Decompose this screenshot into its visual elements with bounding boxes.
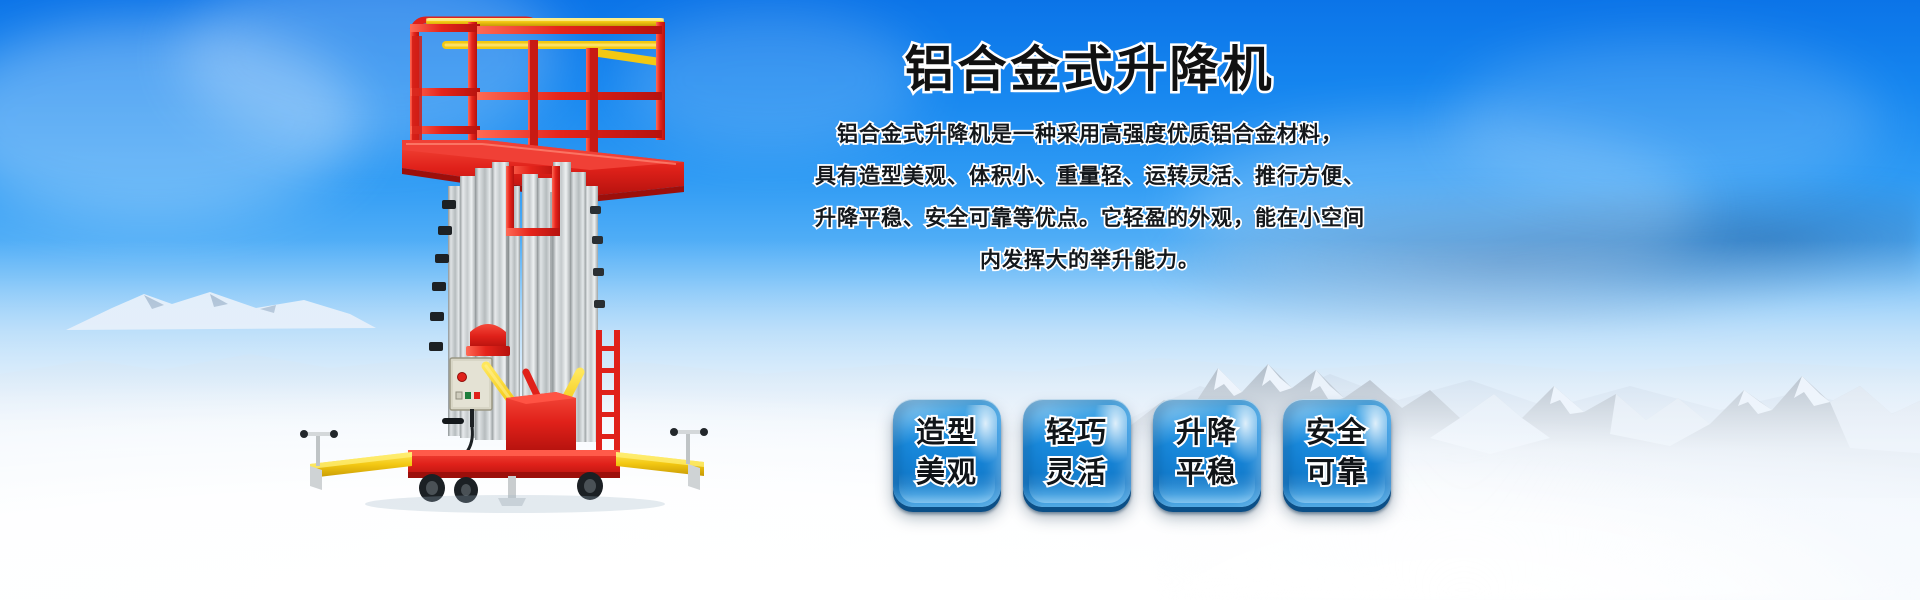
feature-badge-line2: 可靠 bbox=[1306, 453, 1368, 493]
feature-badge-list: 造型 美观 轻巧 灵活 升降 平稳 安全 可靠 bbox=[893, 399, 1391, 507]
feature-badge-line1: 造型 bbox=[916, 413, 978, 453]
feature-badge-line1: 轻巧 bbox=[1046, 413, 1108, 453]
feature-badge-lightweight[interactable]: 轻巧 灵活 bbox=[1023, 399, 1131, 507]
guard-rail-cage bbox=[402, 18, 684, 202]
feature-badge-line2: 平稳 bbox=[1176, 453, 1238, 493]
feature-badge-line2: 灵活 bbox=[1046, 453, 1108, 493]
feature-badge-safe[interactable]: 安全 可靠 bbox=[1283, 399, 1391, 507]
page-title: 铝合金式升降机 bbox=[700, 46, 1480, 96]
feature-badge-design[interactable]: 造型 美观 bbox=[893, 399, 1001, 507]
description-line: 升降平稳、安全可靠等优点。它轻盈的外观，能在小空间 bbox=[700, 198, 1480, 240]
description-line: 具有造型美观、体积小、重量轻、运转灵活、推行方便、 bbox=[700, 156, 1480, 198]
copy-block: 铝合金式升降机 铝合金式升降机是一种采用高强度优质铝合金材料， 具有造型美观、体… bbox=[700, 46, 1480, 282]
description-line: 铝合金式升降机是一种采用高强度优质铝合金材料， bbox=[700, 114, 1480, 156]
feature-badge-line1: 安全 bbox=[1306, 413, 1368, 453]
promo-banner: 铝合金式升降机 铝合金式升降机是一种采用高强度优质铝合金材料， 具有造型美观、体… bbox=[0, 0, 1920, 600]
ladder bbox=[596, 330, 620, 458]
description: 铝合金式升降机是一种采用高强度优质铝合金材料， 具有造型美观、体积小、重量轻、运… bbox=[700, 114, 1480, 282]
product-image-aluminum-lift bbox=[290, 0, 710, 520]
description-line: 内发挥大的举升能力。 bbox=[700, 240, 1480, 282]
feature-badge-smooth-lift[interactable]: 升降 平稳 bbox=[1153, 399, 1261, 507]
feature-badge-line1: 升降 bbox=[1176, 413, 1238, 453]
feature-badge-line2: 美观 bbox=[916, 453, 978, 493]
